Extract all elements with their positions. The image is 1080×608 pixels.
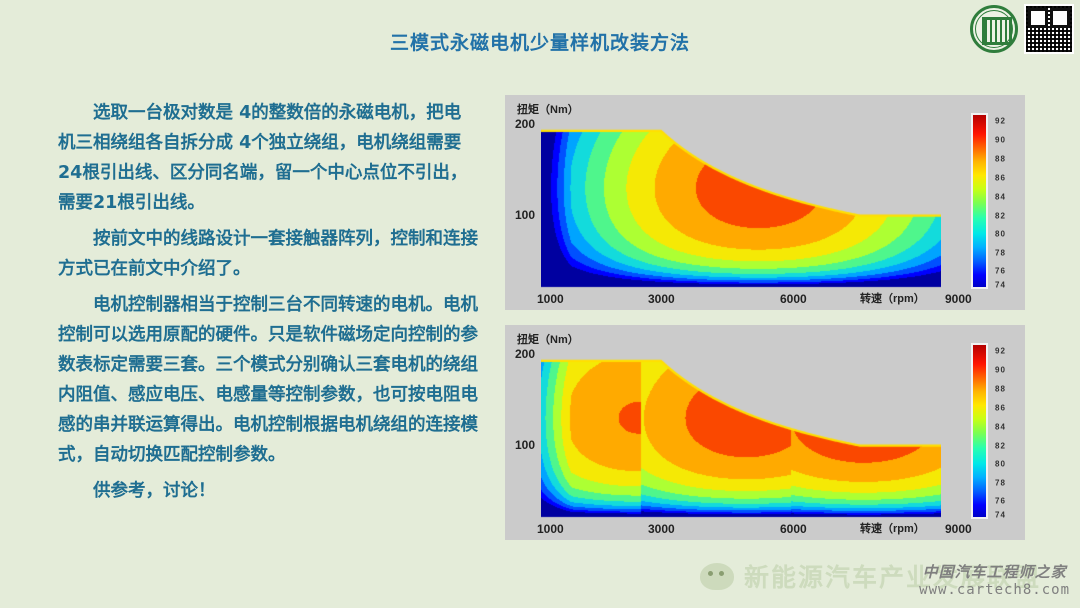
cb-bot-tick-5: 82: [995, 442, 1006, 451]
chart-top-xtick-6000: 6000: [780, 292, 807, 306]
chart-bottom-plot-area: [541, 353, 941, 518]
chart-bottom-ytick-100: 100: [515, 438, 535, 452]
chart-single-mode-efficiency-map: 扭矩（Nm） 200 100 1000 3000 6000 9000 转速（rp…: [505, 95, 1025, 310]
chart-top-xtick-1000: 1000: [537, 292, 564, 306]
cb-top-tick-6: 80: [995, 230, 1006, 239]
paragraph-3: 电机控制器相当于控制三台不同转速的电机。电机控制可以选用原配的硬件。只是软件磁场…: [58, 290, 478, 470]
wechat-icon: [700, 563, 734, 590]
chart-top-xtick-3000: 3000: [648, 292, 675, 306]
watermark-cn-text: 中国汽车工程师之家: [919, 561, 1070, 582]
watermark: 中国汽车工程师之家 www.cartech8.com: [919, 561, 1070, 598]
chart-three-mode-efficiency-map: 扭矩（Nm） 200 100 1000 3000 6000 9000 转速（rp…: [505, 325, 1025, 540]
chart-bottom-colorbar: 92 90 88 86 84 82 80 78 76 74: [971, 343, 1017, 519]
wechat-qr-code-icon: [1024, 4, 1074, 54]
chart-bottom-xlabel: 转速（rpm）: [860, 520, 925, 536]
paragraph-1: 选取一台极对数是 4的整数倍的永磁电机，把电机三相绕组各自拆分成 4个独立绕组，…: [58, 98, 478, 218]
cb-bot-tick-6: 80: [995, 460, 1006, 469]
cb-bot-tick-4: 84: [995, 423, 1006, 432]
cb-top-tick-9: 74: [995, 281, 1006, 290]
cb-top-tick-7: 78: [995, 249, 1006, 258]
chart-top-ytick-100: 100: [515, 208, 535, 222]
chart-top-xtick-9000: 9000: [945, 292, 972, 306]
cb-bot-tick-7: 78: [995, 479, 1006, 488]
cb-top-tick-4: 84: [995, 193, 1006, 202]
chart-bottom-ytick-200: 200: [515, 347, 535, 361]
cb-top-tick-0: 92: [995, 117, 1006, 126]
chart-bottom-colorbar-gradient: [971, 343, 988, 519]
cst-green-seal-logo-icon: [970, 5, 1018, 53]
cb-bot-tick-0: 92: [995, 347, 1006, 356]
watermark-url-text: www.cartech8.com: [919, 582, 1070, 598]
cb-top-tick-5: 82: [995, 212, 1006, 221]
chart-top-ytick-200: 200: [515, 117, 535, 131]
cb-top-tick-3: 86: [995, 174, 1006, 183]
cb-bot-tick-8: 76: [995, 497, 1006, 506]
cb-bot-tick-3: 86: [995, 404, 1006, 413]
page-title: 三模式永磁电机少量样机改装方法: [0, 28, 1080, 55]
chart-top-ylabel: 扭矩（Nm）: [517, 101, 579, 117]
chart-bottom-xtick-1000: 1000: [537, 522, 564, 536]
chart-top-colorbar-gradient: [971, 113, 988, 289]
chart-top-xlabel: 转速（rpm）: [860, 290, 925, 306]
chart-top-colorbar: 92 90 88 86 84 82 80 78 76 74: [971, 113, 1017, 289]
paragraph-2: 按前文中的线路设计一套接触器阵列，控制和连接方式已在前文中介绍了。: [58, 224, 478, 284]
chart-bottom-xtick-9000: 9000: [945, 522, 972, 536]
cb-bot-tick-2: 88: [995, 385, 1006, 394]
body-text-block: 选取一台极对数是 4的整数倍的永磁电机，把电机三相绕组各自拆分成 4个独立绕组，…: [58, 98, 478, 508]
slide-canvas: 三模式永磁电机少量样机改装方法 选取一台极对数是 4的整数倍的永磁电机，把电机三…: [0, 0, 1080, 608]
cb-bot-tick-1: 90: [995, 366, 1006, 375]
cb-top-tick-8: 76: [995, 267, 1006, 276]
chart-bottom-xtick-6000: 6000: [780, 522, 807, 536]
cb-bot-tick-9: 74: [995, 511, 1006, 520]
paragraph-4: 供参考，讨论！: [58, 476, 478, 506]
chart-bottom-xtick-3000: 3000: [648, 522, 675, 536]
brand-mark: [970, 4, 1074, 54]
chart-bottom-ylabel: 扭矩（Nm）: [517, 331, 579, 347]
cb-top-tick-2: 88: [995, 155, 1006, 164]
chart-top-plot-area: [541, 123, 941, 288]
seal-ring: [975, 10, 1013, 48]
cb-top-tick-1: 90: [995, 136, 1006, 145]
